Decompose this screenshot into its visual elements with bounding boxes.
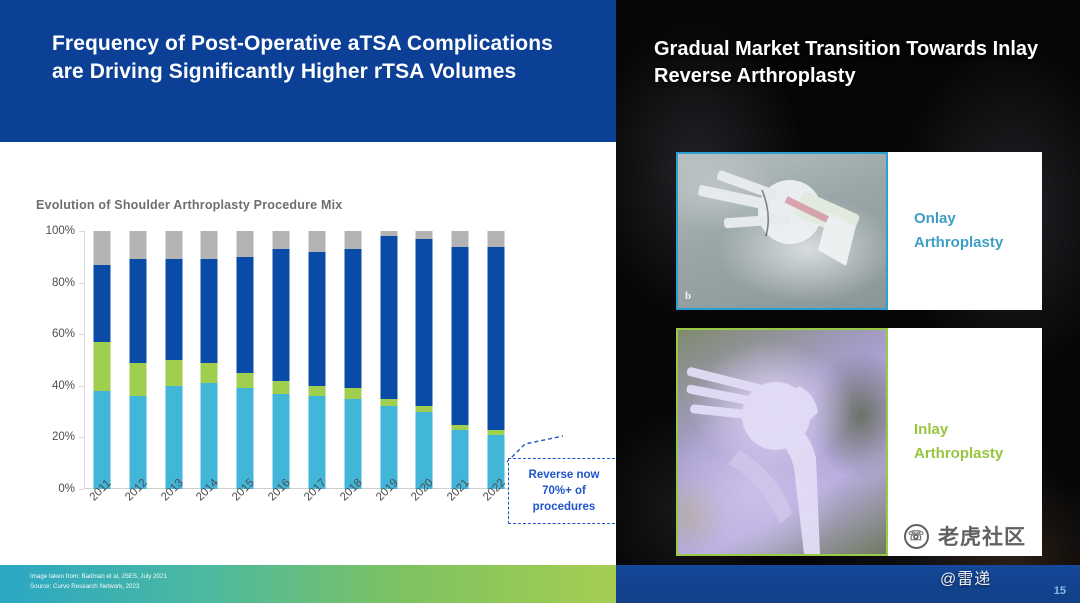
bar-slot (442, 231, 478, 489)
y-axis-tick-label: 20% (52, 431, 75, 443)
stacked-bar[interactable] (416, 231, 433, 489)
source-note: Image taken from: Badman et al, JSES, Ju… (30, 572, 167, 592)
bar-segment-reverse (488, 247, 505, 430)
source-line-1: Image taken from: Badman et al, JSES, Ju… (30, 572, 167, 582)
bar-segment-partial (93, 342, 110, 391)
y-axis-tick-label: 0% (58, 483, 75, 495)
right-panel-title: Gradual Market Transition Towards Inlay … (654, 36, 1054, 90)
bar-segment-total (273, 394, 290, 489)
bar-segment-total (237, 388, 254, 489)
bar-slot (299, 231, 335, 489)
bar-slot (120, 231, 156, 489)
stacked-bar[interactable] (237, 231, 254, 489)
bar-segment-other (129, 231, 146, 259)
inlay-label: Inlay Arthroplasty (914, 418, 1003, 466)
chart-title: Evolution of Shoulder Arthroplasty Proce… (36, 198, 342, 212)
bar-segment-total (344, 399, 361, 489)
bar-segment-reverse (201, 259, 218, 362)
callout-line-3: procedures (533, 499, 596, 515)
bar-segment-partial (380, 399, 397, 407)
leidi-watermark: @雷递 (940, 565, 991, 589)
bar-segment-reverse (165, 259, 182, 360)
stacked-bar[interactable] (129, 231, 146, 489)
stacked-bar[interactable] (488, 231, 505, 489)
onlay-card-row: b Onlay Arthroplasty (676, 152, 1042, 310)
bar-series-group (84, 231, 514, 489)
bar-slot (406, 231, 442, 489)
inlay-label-line-2: Arthroplasty (914, 442, 1003, 466)
y-axis-tick-label: 80% (52, 277, 75, 289)
left-header-band: Frequency of Post-Operative aTSA Complic… (0, 0, 616, 142)
y-axis-tick-label: 100% (46, 225, 75, 237)
onlay-label-line-1: Onlay (914, 207, 1003, 231)
y-axis-tick-label: 40% (52, 380, 75, 392)
bar-segment-partial (201, 363, 218, 384)
inlay-xray-image (676, 328, 888, 556)
onlay-implant-illustration (678, 154, 888, 310)
bar-segment-total (93, 391, 110, 489)
left-panel-title: Frequency of Post-Operative aTSA Complic… (52, 30, 572, 85)
bar-segment-reverse (380, 236, 397, 399)
bar-segment-reverse (273, 249, 290, 381)
stacked-bar[interactable] (93, 231, 110, 489)
stacked-bar[interactable] (380, 231, 397, 489)
bar-segment-other (201, 231, 218, 259)
bar-segment-total (165, 386, 182, 489)
bar-segment-reverse (416, 239, 433, 407)
onlay-label-line-2: Arthroplasty (914, 231, 1003, 255)
bar-segment-total (380, 406, 397, 489)
stacked-bar[interactable] (201, 231, 218, 489)
bar-slot (263, 231, 299, 489)
stacked-bar[interactable] (452, 231, 469, 489)
bar-segment-other (237, 231, 254, 257)
bar-slot (191, 231, 227, 489)
xray-corner-mark: b (685, 290, 691, 302)
right-footer-band (616, 565, 1080, 603)
callout-line-1: Reverse now (529, 467, 600, 483)
bar-segment-other (93, 231, 110, 265)
bar-segment-total (129, 396, 146, 489)
bar-segment-partial (129, 363, 146, 397)
callout-line-2: 70%+ of (542, 483, 586, 499)
stacked-bar[interactable] (344, 231, 361, 489)
tiger-logo-icon: ☏ (904, 524, 929, 549)
bar-slot (227, 231, 263, 489)
bar-slot (156, 231, 192, 489)
bar-slot (335, 231, 371, 489)
onlay-label-card: Onlay Arthroplasty (888, 152, 1042, 310)
bar-segment-partial (237, 373, 254, 388)
bar-slot (371, 231, 407, 489)
bar-segment-reverse (344, 249, 361, 388)
right-panel: Gradual Market Transition Towards Inlay … (616, 0, 1080, 603)
bar-segment-reverse (129, 259, 146, 362)
bar-segment-total (201, 383, 218, 489)
bar-segment-total (416, 412, 433, 489)
tiger-community-watermark: ☏ 老虎社区 (904, 521, 1026, 551)
bar-segment-other (273, 231, 290, 249)
slide: Frequency of Post-Operative aTSA Complic… (0, 0, 1080, 603)
bar-segment-reverse (237, 257, 254, 373)
stacked-bar[interactable] (308, 231, 325, 489)
stacked-bar[interactable] (165, 231, 182, 489)
bar-segment-reverse (452, 247, 469, 425)
bar-segment-partial (308, 386, 325, 396)
bar-segment-other (416, 231, 433, 239)
bar-segment-partial (273, 381, 290, 394)
chart-card: Evolution of Shoulder Arthroplasty Proce… (0, 142, 616, 565)
bar-slot (84, 231, 120, 489)
y-axis-tick-label: 60% (52, 328, 75, 340)
page-number: 15 (1054, 585, 1066, 597)
y-axis-tick (79, 489, 84, 490)
stacked-bar[interactable] (273, 231, 290, 489)
inlay-label-line-1: Inlay (914, 418, 1003, 442)
onlay-xray-image: b (676, 152, 888, 310)
chart-plot-area: 0%20%40%60%80%100% 201120122013201420152… (84, 231, 514, 489)
callout-box: Reverse now 70%+ of procedures (508, 458, 620, 524)
bar-segment-other (452, 231, 469, 246)
bar-segment-other (308, 231, 325, 252)
bar-segment-reverse (308, 252, 325, 386)
bar-segment-other (165, 231, 182, 259)
onlay-label: Onlay Arthroplasty (914, 207, 1003, 255)
bar-segment-reverse (93, 265, 110, 342)
source-line-2: Source: Curvo Research Network, 2023 (30, 582, 167, 592)
bar-segment-partial (165, 360, 182, 386)
left-panel: Frequency of Post-Operative aTSA Complic… (0, 0, 616, 603)
bar-segment-total (308, 396, 325, 489)
tiger-watermark-text: 老虎社区 (938, 521, 1026, 551)
bar-segment-other (344, 231, 361, 249)
bar-segment-partial (344, 388, 361, 398)
left-footer-gradient-bar: Image taken from: Badman et al, JSES, Ju… (0, 565, 616, 603)
bar-segment-other (488, 231, 505, 246)
inlay-implant-illustration (678, 330, 888, 556)
